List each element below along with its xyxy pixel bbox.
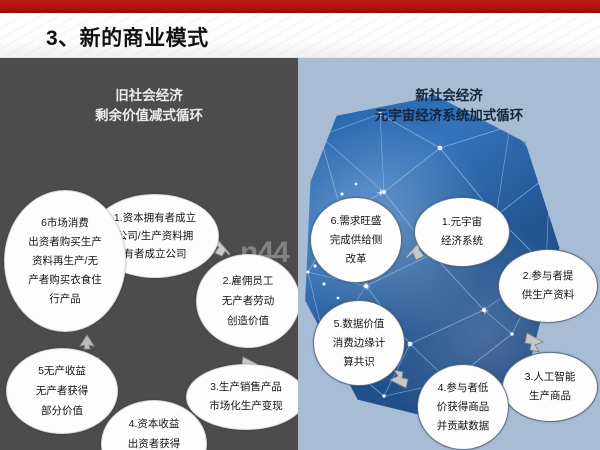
left-node-2[interactable]: 2.雇佣员工 无产者劳动 创造价值 xyxy=(196,254,298,348)
slide-canvas: 3、新的商业模式 旧社会经济 剩余价值减式循环 xyxy=(0,0,600,450)
right-node-3-line-2: 生产商品 xyxy=(529,387,571,406)
left-node-4-line-2: 出资者获得 xyxy=(128,434,181,450)
left-node-1-line-1: 1.资本拥有者成立 xyxy=(114,209,196,227)
left-node-1-line-2: 公司/生产资料拥 xyxy=(117,227,193,245)
left-node-6-line-3: 资料再生产/无 xyxy=(32,252,98,271)
left-node-1-line-3: 有者成立公司 xyxy=(124,245,187,263)
right-panel: 新社会经济 元宇宙经济系统加式循环 xyxy=(298,58,600,450)
right-node-5-line-1: 5.数据价值 xyxy=(334,315,385,334)
right-node-1-line-2: 经济系统 xyxy=(441,232,483,251)
right-panel-title: 新社会经济 元宇宙经济系统加式循环 xyxy=(298,86,600,126)
left-panel-title: 旧社会经济 剩余价值减式循环 xyxy=(0,86,298,126)
left-node-6-line-2: 出资者购买生产 xyxy=(28,233,102,252)
right-node-6[interactable]: 6.需求旺盛 完成供给侧 改革 xyxy=(310,197,402,283)
right-node-1-line-1: 1.元宇宙 xyxy=(442,213,482,232)
right-node-6-line-1: 6.需求旺盛 xyxy=(331,212,382,231)
right-node-4[interactable]: 4.参与者低 价获得商品 并贡献数据 xyxy=(417,364,509,450)
right-node-1[interactable]: 1.元宇宙 经济系统 xyxy=(414,197,510,267)
right-panel-title-line1: 新社会经济 xyxy=(298,86,600,106)
left-panel-title-line1: 旧社会经济 xyxy=(0,86,298,106)
left-node-2-line-3: 创造价值 xyxy=(227,311,269,331)
right-node-2-line-2: 供生产资料 xyxy=(522,286,575,305)
right-node-2[interactable]: 2.参与者提 供生产资料 xyxy=(498,249,598,323)
left-panel-title-line2: 剩余价值减式循环 xyxy=(0,106,298,126)
left-node-5-line-2: 无产者获得 xyxy=(36,381,89,401)
left-node-3-line-2: 市场化生产变现 xyxy=(209,397,283,416)
right-node-3[interactable]: 3.人工智能 生产商品 xyxy=(502,352,598,422)
left-node-5[interactable]: 5无产收益 无产者获得 部分价值 xyxy=(6,348,118,434)
right-panel-title-line2: 元宇宙经济系统加式循环 xyxy=(298,106,600,126)
top-accent-bar xyxy=(0,0,600,13)
left-node-2-line-1: 2.雇佣员工 xyxy=(223,271,274,291)
left-node-4-line-1: 4.资本收益 xyxy=(129,414,180,434)
right-node-4-line-1: 4.参与者低 xyxy=(438,379,489,398)
right-node-2-line-1: 2.参与者提 xyxy=(523,267,574,286)
right-node-5-line-2: 消费边缘计 xyxy=(333,334,386,353)
left-node-3[interactable]: 3.生产销售产品 市场化生产变现 xyxy=(186,364,298,430)
left-node-3-line-1: 3.生产销售产品 xyxy=(210,378,282,397)
left-node-5-line-1: 5无产收益 xyxy=(38,361,86,381)
left-node-6-line-4: 产者购买衣食住 xyxy=(28,271,102,290)
left-node-5-line-3: 部分价值 xyxy=(41,401,83,421)
left-node-6-line-5: 行产品 xyxy=(49,290,81,309)
right-node-6-line-3: 改革 xyxy=(346,250,367,269)
left-panel: 旧社会经济 剩余价值减式循环 xyxy=(0,58,298,450)
right-node-3-line-1: 3.人工智能 xyxy=(525,368,576,387)
arrow-left-5-to-6 xyxy=(78,334,96,350)
right-node-5-line-3: 算共识 xyxy=(343,353,375,372)
right-node-5[interactable]: 5.数据价值 消费边缘计 算共识 xyxy=(313,300,405,386)
arrow-right-2-to-3 xyxy=(522,330,546,354)
left-node-6-line-1: 6市场消费 xyxy=(41,214,89,233)
right-node-4-line-3: 并贡献数据 xyxy=(437,417,490,436)
page-title: 3、新的商业模式 xyxy=(46,22,209,52)
right-node-4-line-2: 价获得商品 xyxy=(437,398,490,417)
left-node-2-line-2: 无产者劳动 xyxy=(222,291,275,311)
left-node-6[interactable]: 6市场消费 出资者购买生产 资料再生产/无 产者购买衣食住 行产品 xyxy=(4,190,126,332)
right-node-6-line-2: 完成供给侧 xyxy=(330,231,383,250)
